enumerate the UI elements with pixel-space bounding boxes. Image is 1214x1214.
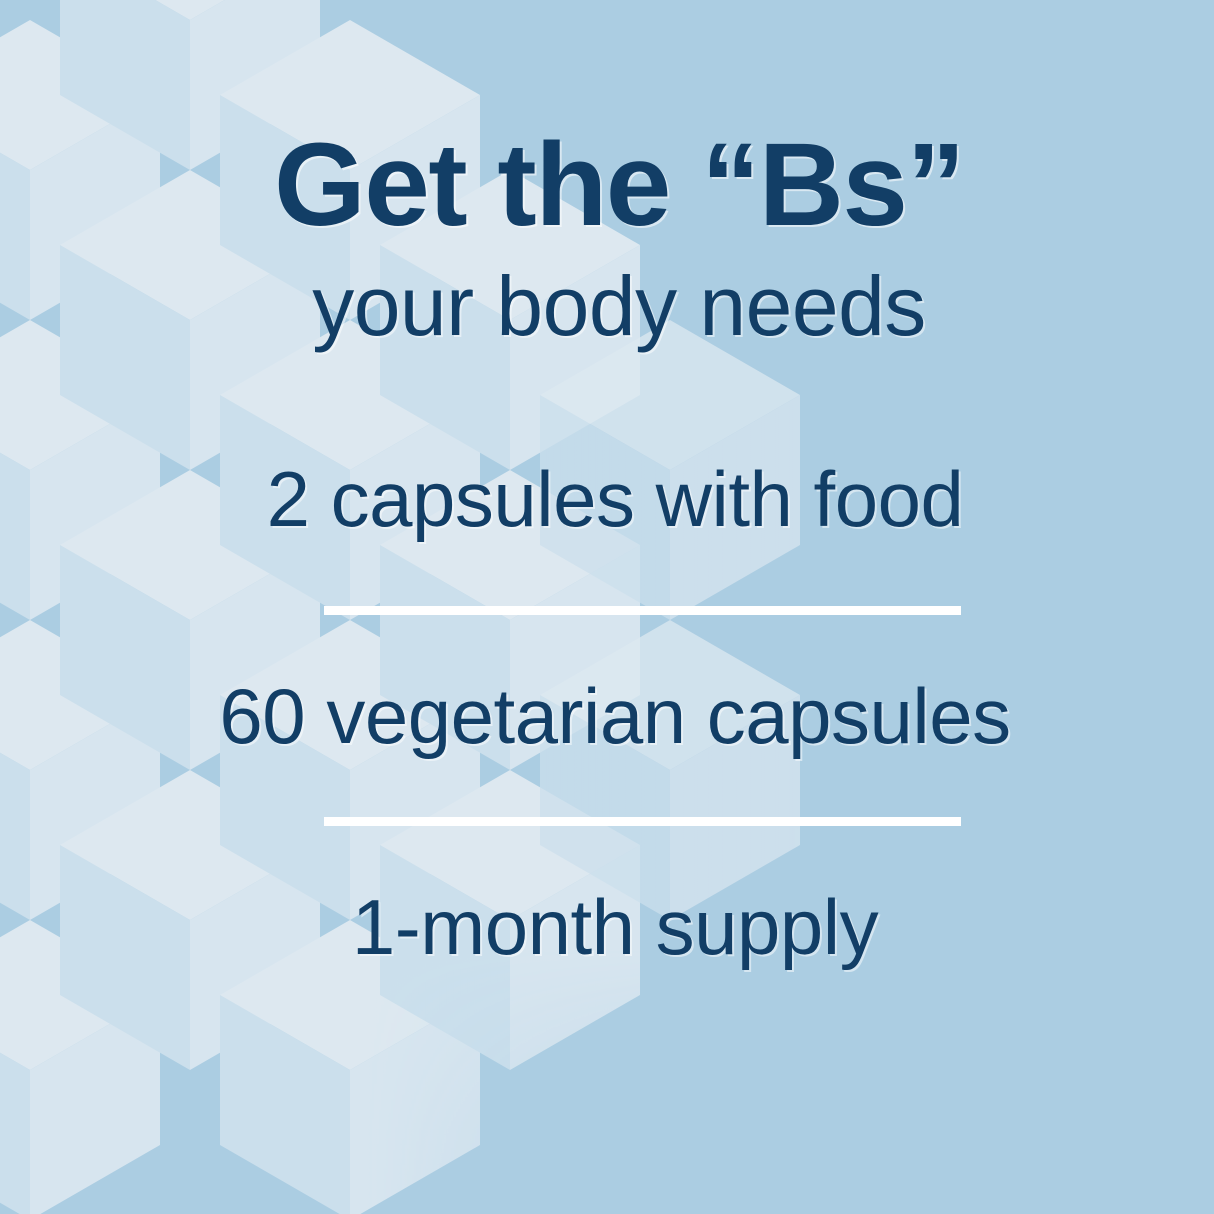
content-stack: Get the “Bs” your body needs 2 capsules …	[0, 0, 1214, 1214]
fact-dosage: 2 capsules with food	[0, 460, 1214, 538]
page-title: Get the “Bs”	[0, 126, 1214, 244]
divider-top	[324, 606, 961, 615]
headline-block: Get the “Bs” your body needs	[0, 126, 1214, 348]
product-info-panel: Get the “Bs” your body needs 2 capsules …	[0, 0, 1214, 1214]
divider-bottom	[324, 817, 961, 826]
fact-count: 60 vegetarian capsules	[0, 677, 1214, 755]
fact-supply-duration: 1-month supply	[0, 888, 1214, 966]
page-subtitle: your body needs	[0, 264, 1214, 348]
